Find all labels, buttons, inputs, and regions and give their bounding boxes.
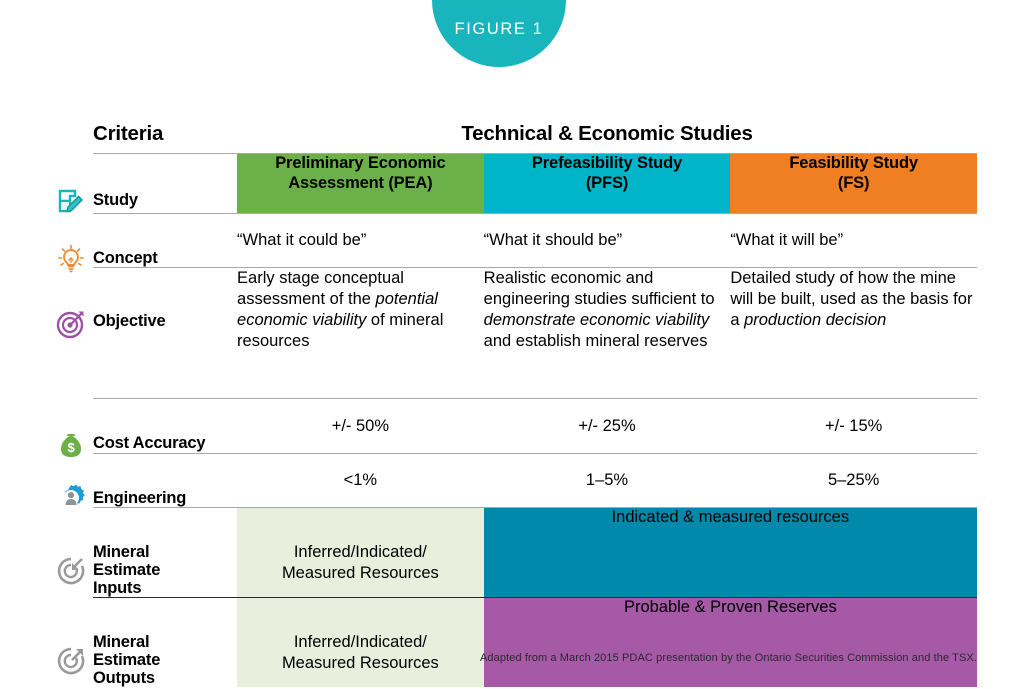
row-label-objective-text: Objective	[93, 312, 165, 330]
table-row-mineral-outputs: Mineral Estimate Outputs Inferred/Indica…	[93, 598, 977, 688]
source-footnote: Adapted from a March 2015 PDAC presentat…	[0, 652, 977, 664]
row-label-concept: Concept	[93, 214, 237, 268]
comparison-table: Study Preliminary Economic Assessment (P…	[93, 153, 977, 687]
cell-outputs-pea: Inferred/Indicated/ Measured Resources	[237, 598, 484, 688]
figure-badge-label: FIGURE 1	[455, 20, 544, 47]
row-label-mineral-outputs: Mineral Estimate Outputs	[93, 598, 237, 688]
column-header-pfs-line1: Prefeasibility Study	[532, 154, 682, 172]
row-label-mineral-inputs: Mineral Estimate Inputs	[93, 508, 237, 598]
cell-outputs-merged: Probable & Proven Reserves	[484, 598, 977, 688]
row-label-engineering-text: Engineering	[93, 489, 186, 507]
cell-cost-pfs: +/- 25%	[484, 399, 731, 453]
cell-objective-fs-em: production decision	[744, 311, 886, 329]
svg-text:$: $	[67, 440, 75, 455]
column-header-fs-line1: Feasibility Study	[789, 154, 918, 172]
column-header-pea: Preliminary Economic Assessment (PEA)	[237, 154, 484, 214]
table-row-engineering: Engineering <1% 1–5% 5–25%	[93, 453, 977, 507]
row-label-cost-accuracy: $ Cost Accuracy	[93, 399, 237, 453]
column-header-pfs-line2: (PFS)	[586, 174, 628, 192]
column-header-pea-line2: Assessment (PEA)	[288, 174, 432, 192]
column-header-fs: Feasibility Study (FS)	[730, 154, 977, 214]
figure-badge: FIGURE 1	[432, 0, 566, 67]
cell-objective-pea: Early stage conceptual assessment of the…	[237, 268, 484, 399]
cell-eng-pea: <1%	[237, 453, 484, 507]
money-bag-icon: $	[55, 410, 87, 442]
cell-inputs-pea: Inferred/Indicated/ Measured Resources	[237, 508, 484, 598]
cell-inputs-merged-text: Indicated & measured resources	[612, 508, 850, 526]
cell-concept-pfs: “What it should be”	[484, 214, 731, 268]
cell-eng-fs: 5–25%	[730, 453, 977, 507]
cell-objective-fs: Detailed study of how the mine will be b…	[730, 268, 977, 399]
table-row-cost-accuracy: $ Cost Accuracy +/- 50% +/- 25% +/- 15%	[93, 399, 977, 453]
figure-canvas: FIGURE 1 Criteria Technical & Economic S…	[0, 0, 1024, 689]
cell-objective-pfs-post: and establish mineral reserves	[484, 332, 708, 350]
row-label-study: Study	[93, 154, 237, 214]
row-label-cost-accuracy-text: Cost Accuracy	[93, 434, 205, 452]
target-dart-icon	[55, 290, 87, 322]
cell-inputs-merged: Indicated & measured resources	[484, 508, 977, 598]
table-row-concept: Concept “What it could be” “What it shou…	[93, 214, 977, 268]
cell-outputs-merged-text: Probable & Proven Reserves	[624, 598, 837, 616]
table-row-study: Study Preliminary Economic Assessment (P…	[93, 154, 977, 214]
cell-objective-pfs: Realistic economic and engineering studi…	[484, 268, 731, 399]
arrow-in-circle-icon	[55, 537, 87, 569]
pencil-note-icon	[55, 168, 87, 200]
cell-objective-pfs-pre: Realistic economic and engineering studi…	[484, 269, 715, 308]
studies-heading: Technical & Economic Studies	[237, 122, 977, 146]
cell-cost-fs: +/- 15%	[730, 399, 977, 453]
lightbulb-icon	[55, 225, 87, 257]
cell-inputs-pea-text: Inferred/Indicated/ Measured Resources	[282, 543, 439, 582]
cell-cost-pea: +/- 50%	[237, 399, 484, 453]
column-header-pea-line1: Preliminary Economic	[275, 154, 445, 172]
row-label-study-text: Study	[93, 191, 138, 209]
cell-objective-pfs-em: demonstrate economic viability	[484, 311, 710, 329]
cell-concept-pea: “What it could be”	[237, 214, 484, 268]
row-label-objective: Objective	[93, 268, 237, 399]
column-header-pfs: Prefeasibility Study (PFS)	[484, 154, 731, 214]
criteria-heading: Criteria	[93, 122, 163, 146]
table-row-objective: Objective Early stage conceptual assessm…	[93, 268, 977, 399]
table-row-mineral-inputs: Mineral Estimate Inputs Inferred/Indicat…	[93, 508, 977, 598]
column-header-fs-line2: (FS)	[838, 174, 869, 192]
cell-concept-fs: “What it will be”	[730, 214, 977, 268]
gear-person-icon	[55, 465, 87, 497]
row-label-mineral-inputs-text: Mineral Estimate Inputs	[93, 543, 160, 597]
cell-eng-pfs: 1–5%	[484, 453, 731, 507]
row-label-engineering: Engineering	[93, 453, 237, 507]
row-label-concept-text: Concept	[93, 249, 158, 267]
